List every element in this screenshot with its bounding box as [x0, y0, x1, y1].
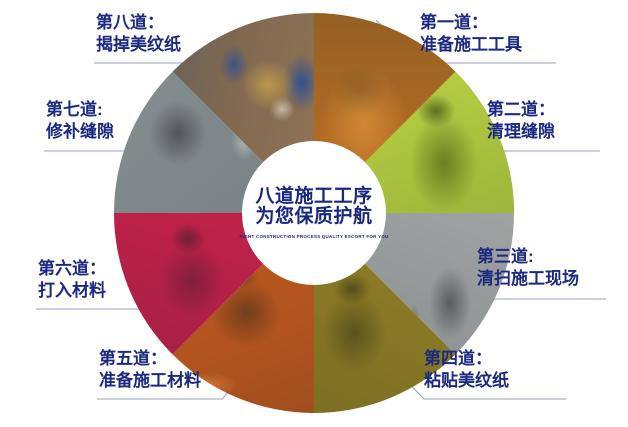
- center-title-line2: 为您保质护航: [255, 207, 372, 227]
- step-label-5[interactable]: 第五道： 准备施工材料: [99, 348, 201, 392]
- step-label-2[interactable]: 第二道： 清理缝隙: [487, 99, 555, 143]
- center-title-line1: 八道施工工序: [255, 187, 372, 207]
- step-5-name: 准备施工材料: [99, 370, 201, 392]
- step-7-name: 修补缝隙: [46, 121, 114, 143]
- step-label-7[interactable]: 第七道: 修补缝隙: [46, 99, 114, 143]
- center-english-subtitle: EIGHT CONSTRUCTION PROCESS QUALITY ESCOR…: [240, 234, 389, 239]
- step-label-3[interactable]: 第三道: 清扫施工现场: [477, 246, 579, 290]
- wheel-center: 八道施工工序 为您保质护航 EIGHT CONSTRUCTION PROCESS…: [242, 141, 386, 285]
- step-label-8[interactable]: 第八道： 揭掉美纹纸: [96, 12, 181, 56]
- step-label-4[interactable]: 第四道： 粘贴美纹纸: [424, 348, 509, 392]
- step-6-number: 第六道：: [38, 258, 106, 280]
- step-3-name: 清扫施工现场: [477, 268, 579, 290]
- step-8-number: 第八道：: [96, 12, 181, 34]
- step-6-name: 打入材料: [38, 280, 106, 302]
- step-4-name: 粘贴美纹纸: [424, 370, 509, 392]
- step-2-name: 清理缝隙: [487, 121, 555, 143]
- step-8-name: 揭掉美纹纸: [96, 34, 181, 56]
- step-4-number: 第四道：: [424, 348, 509, 370]
- step-2-number: 第二道：: [487, 99, 555, 121]
- step-1-number: 第一道：: [420, 12, 522, 34]
- process-wheel-graphic: 八道施工工序 为您保质护航 EIGHT CONSTRUCTION PROCESS…: [0, 0, 628, 427]
- step-1-name: 准备施工工具: [420, 34, 522, 56]
- step-3-number: 第三道:: [477, 246, 579, 268]
- step-7-number: 第七道:: [46, 99, 114, 121]
- step-5-number: 第五道：: [99, 348, 201, 370]
- step-label-6[interactable]: 第六道： 打入材料: [38, 258, 106, 302]
- step-label-1[interactable]: 第一道： 准备施工工具: [420, 12, 522, 56]
